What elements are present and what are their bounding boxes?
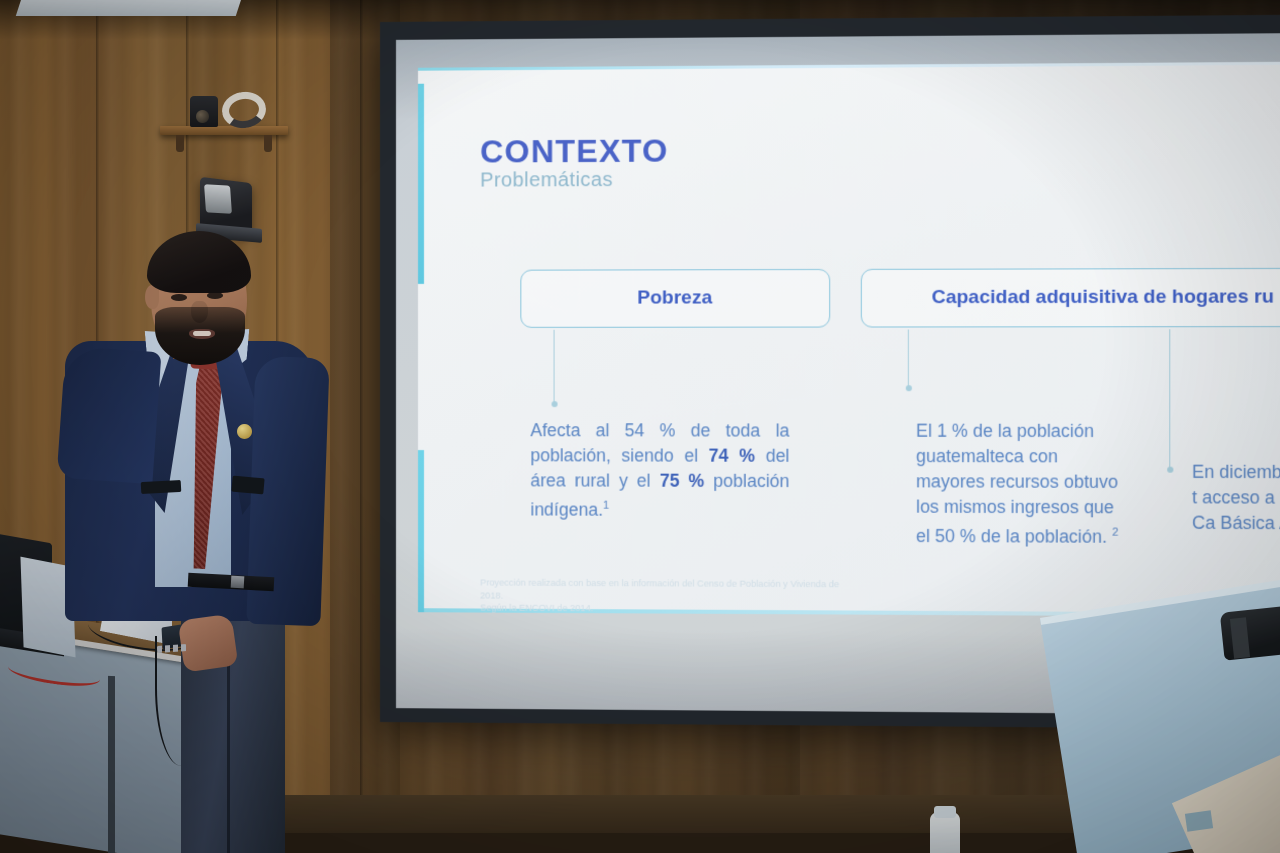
slide-subtitle: Problemáticas (480, 169, 613, 193)
presentation-scene: CONTEXTO Problemáticas Pobreza Capacidad… (0, 0, 1280, 853)
slide-canvas: CONTEXTO Problemáticas Pobreza Capacidad… (418, 62, 1280, 617)
col1-footnote-marker: 1 (603, 500, 609, 512)
name-card (1185, 810, 1213, 831)
hand (178, 613, 239, 672)
topic-card-capacidad-adquisitiva[interactable]: Capacidad adquisitiva de hogares ru (861, 268, 1280, 328)
name-badge-right (231, 476, 264, 495)
eye-left (171, 294, 187, 301)
connector-dot (551, 401, 557, 407)
shelf-bracket (176, 135, 184, 152)
body-text-column-1: Afecta al 54 % de toda la población, sie… (530, 418, 789, 523)
connector-line-3 (1169, 329, 1170, 469)
water-bottle (930, 812, 960, 853)
nose (191, 301, 208, 323)
jacket-shoulder-left (57, 346, 162, 484)
col2-footnote-marker: 2 (1112, 527, 1118, 539)
black-bag (1220, 603, 1280, 660)
name-badge-left (141, 480, 182, 494)
col2-text: El 1 % de la población guatemalteca con … (916, 421, 1118, 547)
lapel-pin-icon (237, 424, 252, 439)
footnote-3: Según el INE. (480, 614, 844, 617)
speaker-lens (204, 184, 232, 214)
connector-dot (1167, 466, 1173, 472)
eye-right (207, 292, 223, 299)
footnote-1: Proyección realizada con base en la info… (480, 576, 844, 603)
connector-line-1 (554, 330, 555, 404)
slide-title: CONTEXTO (480, 132, 668, 170)
wall-shelf (160, 126, 288, 135)
shelf-bracket (264, 135, 272, 152)
trouser-seam (227, 645, 230, 853)
col1-seg-b: 74 % (709, 446, 755, 466)
slide-footnotes: Proyección realizada con base en la info… (480, 576, 844, 617)
bottle-cap (934, 806, 956, 818)
teeth (193, 331, 211, 336)
body-text-column-3: En diciembre un jornalero t acceso a tan… (1192, 460, 1280, 537)
belt-buckle (231, 576, 245, 589)
body-text-column-2: El 1 % de la población guatemalteca con … (916, 419, 1132, 550)
connector-dot (905, 385, 911, 391)
col3-text: En diciembre un jornalero t acceso a tan… (1192, 462, 1280, 534)
footnote-2: Según la ENCOVI de 2014. (480, 602, 844, 617)
presenter (55, 245, 325, 853)
topic-card-pobreza[interactable]: Pobreza (520, 269, 830, 328)
ceiling-light-panel (16, 0, 244, 16)
camera-icon (190, 96, 218, 127)
col1-seg-d: 75 % (660, 471, 705, 491)
connector-line-2 (908, 329, 909, 388)
